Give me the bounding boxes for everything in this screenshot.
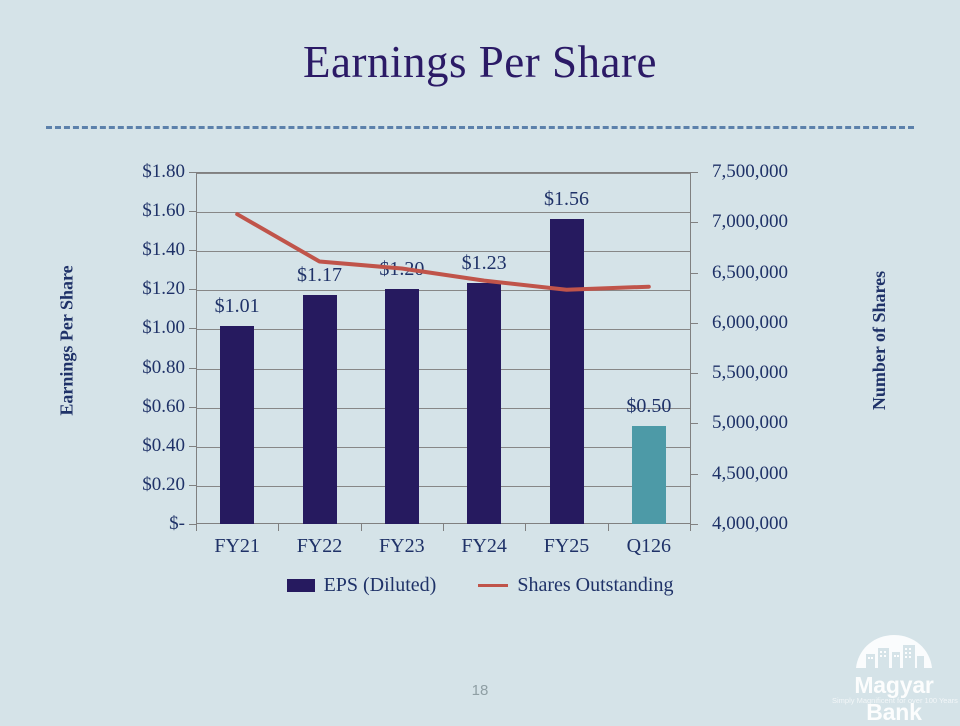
chart-legend: EPS (Diluted) Shares Outstanding [0,574,960,597]
x-tick [361,524,362,531]
chart-earnings-per-share: $-$0.20$0.40$0.60$0.80$1.00$1.20$1.40$1.… [0,150,960,610]
y-axis-right-title: Number of Shares [869,271,890,410]
logo-magyar-bank: Magyar Bank Simply Magnificent for over … [832,634,956,714]
x-tick [690,524,691,531]
slide-earnings-per-share: Earnings Per Share $-$0.20$0.40$0.60$0.8… [0,0,960,720]
x-tick [278,524,279,531]
line-path-shares-outstanding [237,214,649,290]
legend-label-shares: Shares Outstanding [517,574,673,597]
x-axis-label-q126: Q126 [599,536,699,556]
page-title: Earnings Per Share [0,38,960,88]
bank-skyline-icon [854,634,934,674]
x-tick [525,524,526,531]
x-tick [196,524,197,531]
legend-label-eps: EPS (Diluted) [324,574,437,597]
x-tick [608,524,609,531]
legend-item-shares-outstanding[interactable]: Shares Outstanding [478,574,673,597]
logo-tagline: Simply Magnificent for over 100 Years [832,696,956,705]
legend-item-eps[interactable]: EPS (Diluted) [287,574,437,597]
y-axis-left-title: Earnings Per Share [57,265,78,415]
x-tick [443,524,444,531]
page-number: 18 [0,682,960,699]
title-divider [46,126,914,129]
legend-swatch-bar-icon [287,579,315,592]
legend-swatch-line-icon [478,584,508,587]
